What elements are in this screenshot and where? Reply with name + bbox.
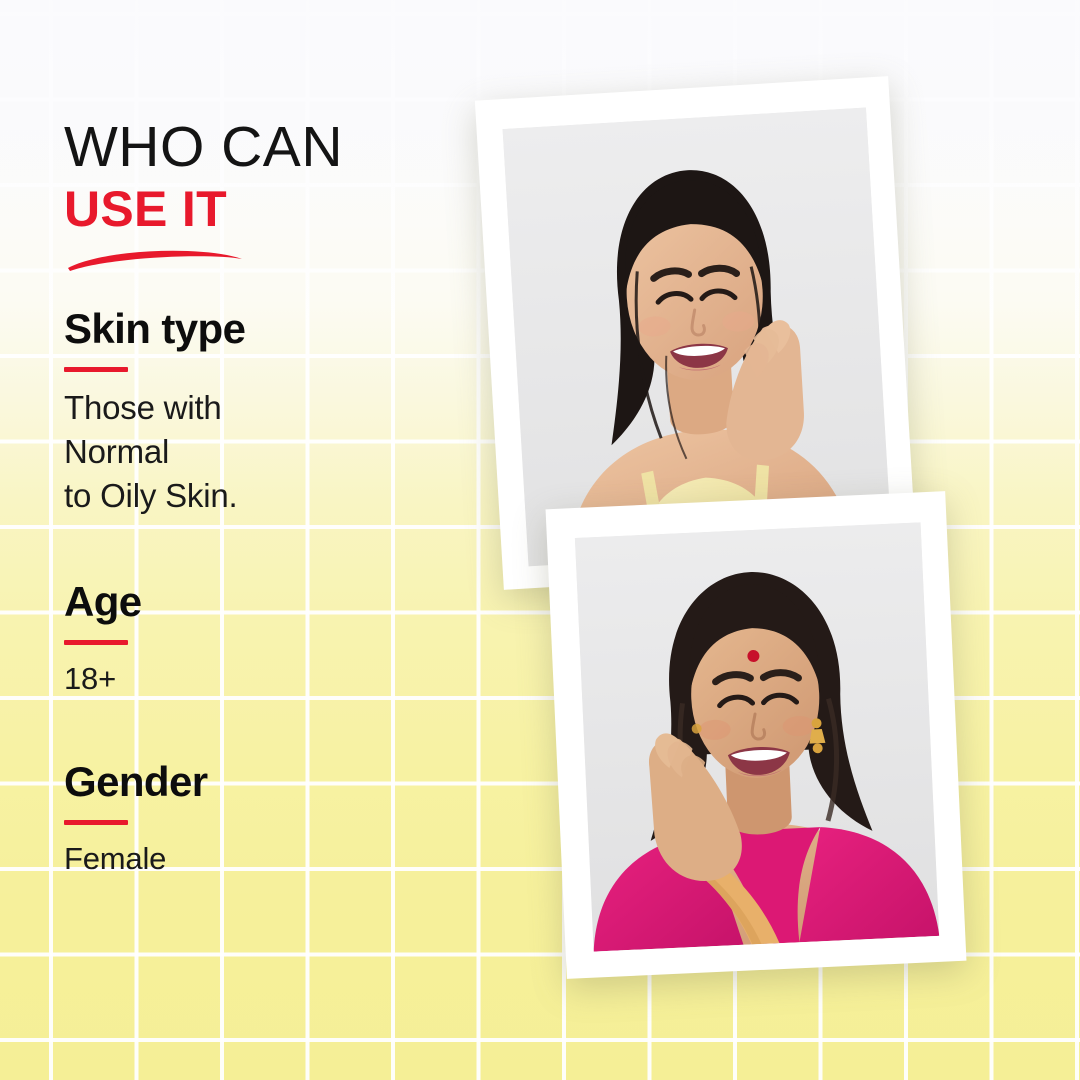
headline-line-2: USE IT: [64, 182, 484, 236]
photo-image-area: [575, 522, 939, 951]
red-brush-swoosh-icon: [66, 240, 266, 276]
section-skin-type: Skin type Those with Normal to Oily Skin…: [64, 305, 484, 518]
section-body: Those with Normal to Oily Skin.: [64, 386, 484, 518]
section-title: Skin type: [64, 305, 484, 353]
section-title: Age: [64, 578, 484, 626]
mature-woman-smiling-photo: [546, 491, 967, 979]
section-title: Gender: [64, 758, 484, 806]
section-age: Age 18+: [64, 578, 484, 699]
poster-canvas: WHO CAN USE IT Skin type Those with Norm…: [0, 0, 1080, 1080]
red-dash-divider: [64, 640, 128, 645]
red-dash-divider: [64, 820, 128, 825]
headline-block: WHO CAN USE IT: [64, 118, 484, 236]
text-column: WHO CAN USE IT Skin type Those with Norm…: [64, 0, 494, 1080]
section-body: Female: [64, 839, 484, 879]
headline-line-1: WHO CAN: [64, 118, 484, 176]
section-body: 18+: [64, 659, 484, 699]
section-gender: Gender Female: [64, 758, 484, 879]
red-dash-divider: [64, 367, 128, 372]
